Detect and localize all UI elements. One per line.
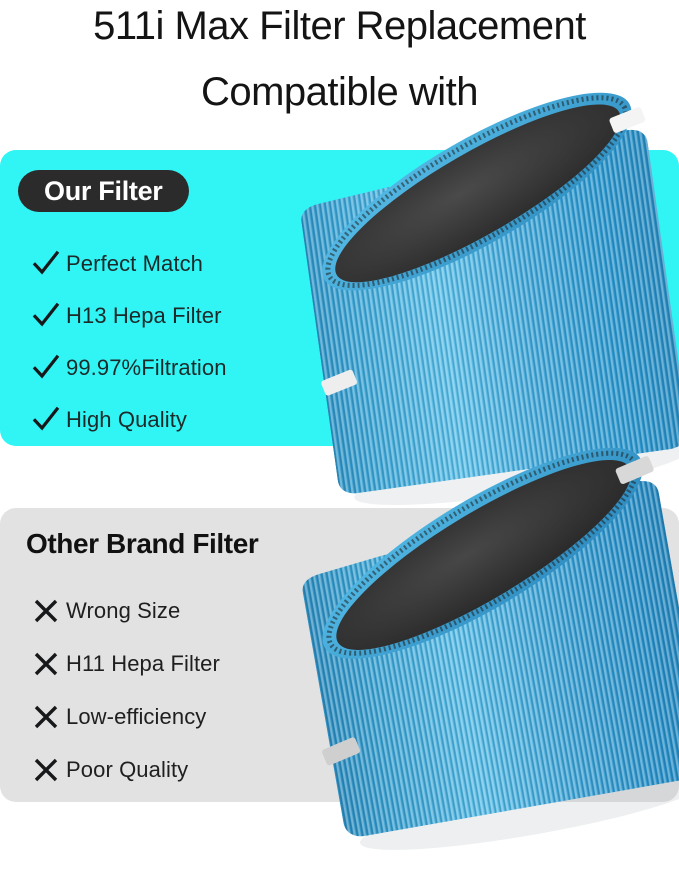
list-item: High Quality: [0, 394, 340, 446]
list-item: H13 Hepa Filter: [0, 290, 340, 342]
cross-icon: [26, 598, 66, 624]
list-item-label: High Quality: [66, 407, 187, 433]
list-item-label: Wrong Size: [66, 598, 180, 624]
list-item: H11 Hepa Filter: [0, 637, 340, 690]
cross-icon: [26, 757, 66, 783]
list-item-label: Poor Quality: [66, 757, 188, 783]
our-filter-panel-content: Our Filter Perfect Match: [0, 150, 679, 446]
cross-icon: [26, 704, 66, 730]
page-title-line-1: 511i Max Filter Replacement: [0, 6, 679, 46]
list-item-label: H11 Hepa Filter: [66, 651, 220, 677]
list-item: 99.97%Filtration: [0, 342, 340, 394]
list-item-label: Low-efficiency: [66, 704, 206, 730]
check-icon: [26, 354, 66, 382]
our-filter-badge: Our Filter: [18, 170, 189, 212]
check-icon: [26, 250, 66, 278]
page-title-line-2: Compatible with: [0, 72, 679, 112]
cross-icon: [26, 651, 66, 677]
other-brand-filter-feature-list: Wrong Size H11 Hepa Filter: [0, 584, 340, 796]
list-item-label: H13 Hepa Filter: [66, 303, 222, 329]
other-brand-filter-title: Other Brand Filter: [26, 530, 258, 558]
list-item-label: 99.97%Filtration: [66, 355, 227, 381]
list-item: Low-efficiency: [0, 690, 340, 743]
list-item-label: Perfect Match: [66, 251, 203, 277]
check-icon: [26, 406, 66, 434]
list-item: Perfect Match: [0, 238, 340, 290]
page-title: 511i Max Filter Replacement Compatible w…: [0, 0, 679, 112]
our-filter-feature-list: Perfect Match H13 Hepa Filter: [0, 238, 340, 446]
check-icon: [26, 302, 66, 330]
product-comparison-image: 511i Max Filter Replacement Compatible w…: [0, 0, 679, 839]
other-brand-filter-panel-content: Other Brand Filter Wrong Size: [0, 508, 679, 802]
list-item: Wrong Size: [0, 584, 340, 637]
our-filter-badge-label: Our Filter: [44, 178, 163, 205]
list-item: Poor Quality: [0, 743, 340, 796]
